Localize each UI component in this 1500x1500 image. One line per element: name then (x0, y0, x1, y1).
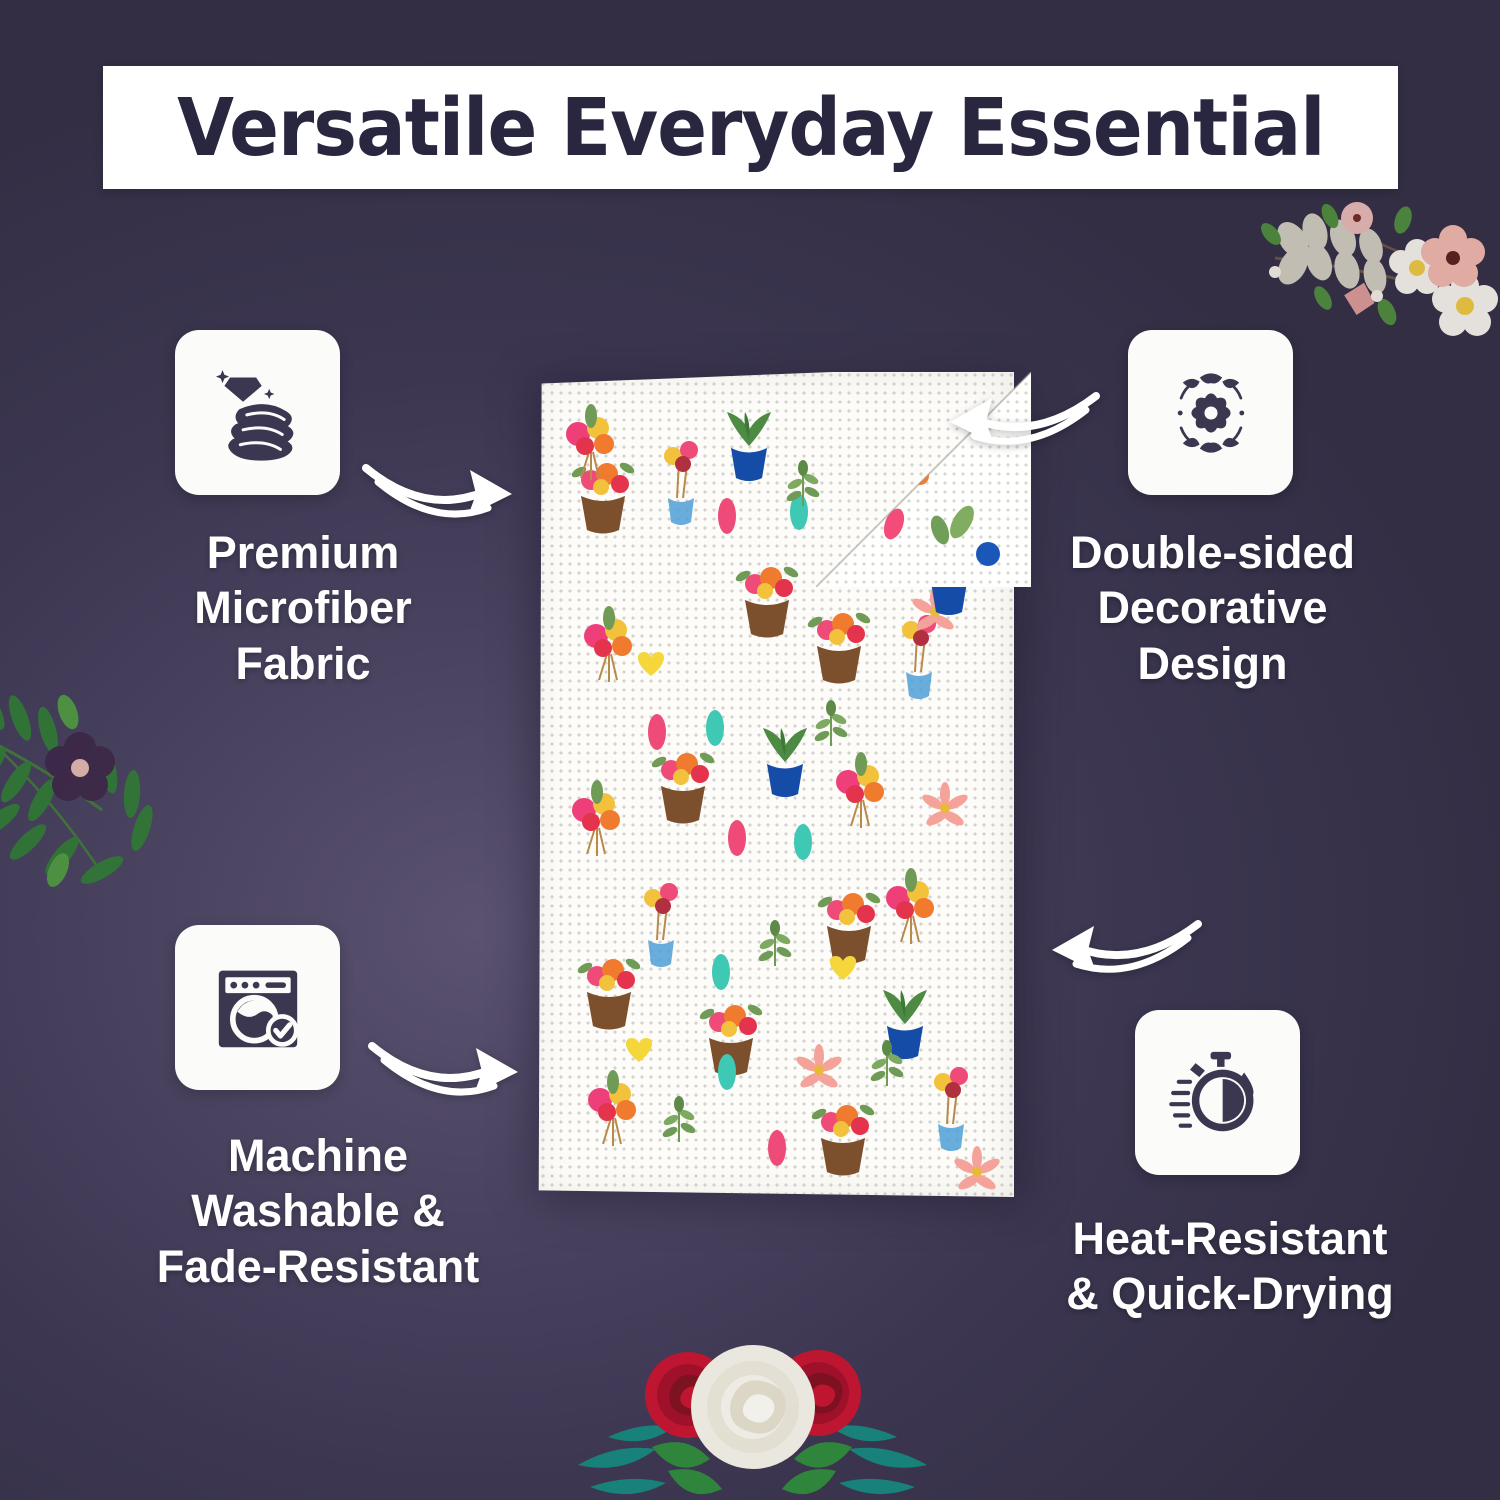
curved-arrow-left-icon (1042, 910, 1202, 988)
feature-double-sided-decorative-design: Double-sided Decorative Design (1040, 330, 1385, 691)
washing-machine-check-icon (202, 952, 314, 1064)
stopwatch-droplet-icon (1162, 1037, 1274, 1149)
title-banner: Versatile Everyday Essential (103, 66, 1398, 189)
floral-ornament-icon (1155, 357, 1267, 469)
rose-cluster-bottom-center-decoration (560, 1335, 945, 1500)
icon-tile-double-sided-design (1128, 330, 1293, 495)
page-title: Versatile Everyday Essential (177, 82, 1324, 174)
diamond-folded-towels-icon (202, 357, 314, 469)
feature-label-premium-microfiber: Premium Microfiber Fabric (133, 525, 473, 691)
icon-tile-machine-washable (175, 925, 340, 1090)
infographic-canvas: Versatile Everyday Essential (0, 0, 1500, 1500)
icon-tile-heat-resistant-quick-drying (1135, 1010, 1300, 1175)
fern-branch-left-decoration (0, 670, 212, 920)
feature-premium-microfiber-fabric: Premium Microfiber Fabric (133, 330, 473, 691)
feature-heat-resistant-quick-drying: Heat-Resistant & Quick-Drying (1035, 1010, 1425, 1322)
feature-label-double-sided-design: Double-sided Decorative Design (1040, 525, 1385, 691)
icon-tile-premium-microfiber (175, 330, 340, 495)
feature-machine-washable-fade-resistant: Machine Washable & Fade-Resistant (133, 925, 503, 1294)
feature-label-machine-washable: Machine Washable & Fade-Resistant (133, 1128, 503, 1294)
feature-label-heat-resistant: Heat-Resistant & Quick-Drying (1035, 1211, 1425, 1322)
product-image-towel: crae. (516, 360, 1041, 1195)
